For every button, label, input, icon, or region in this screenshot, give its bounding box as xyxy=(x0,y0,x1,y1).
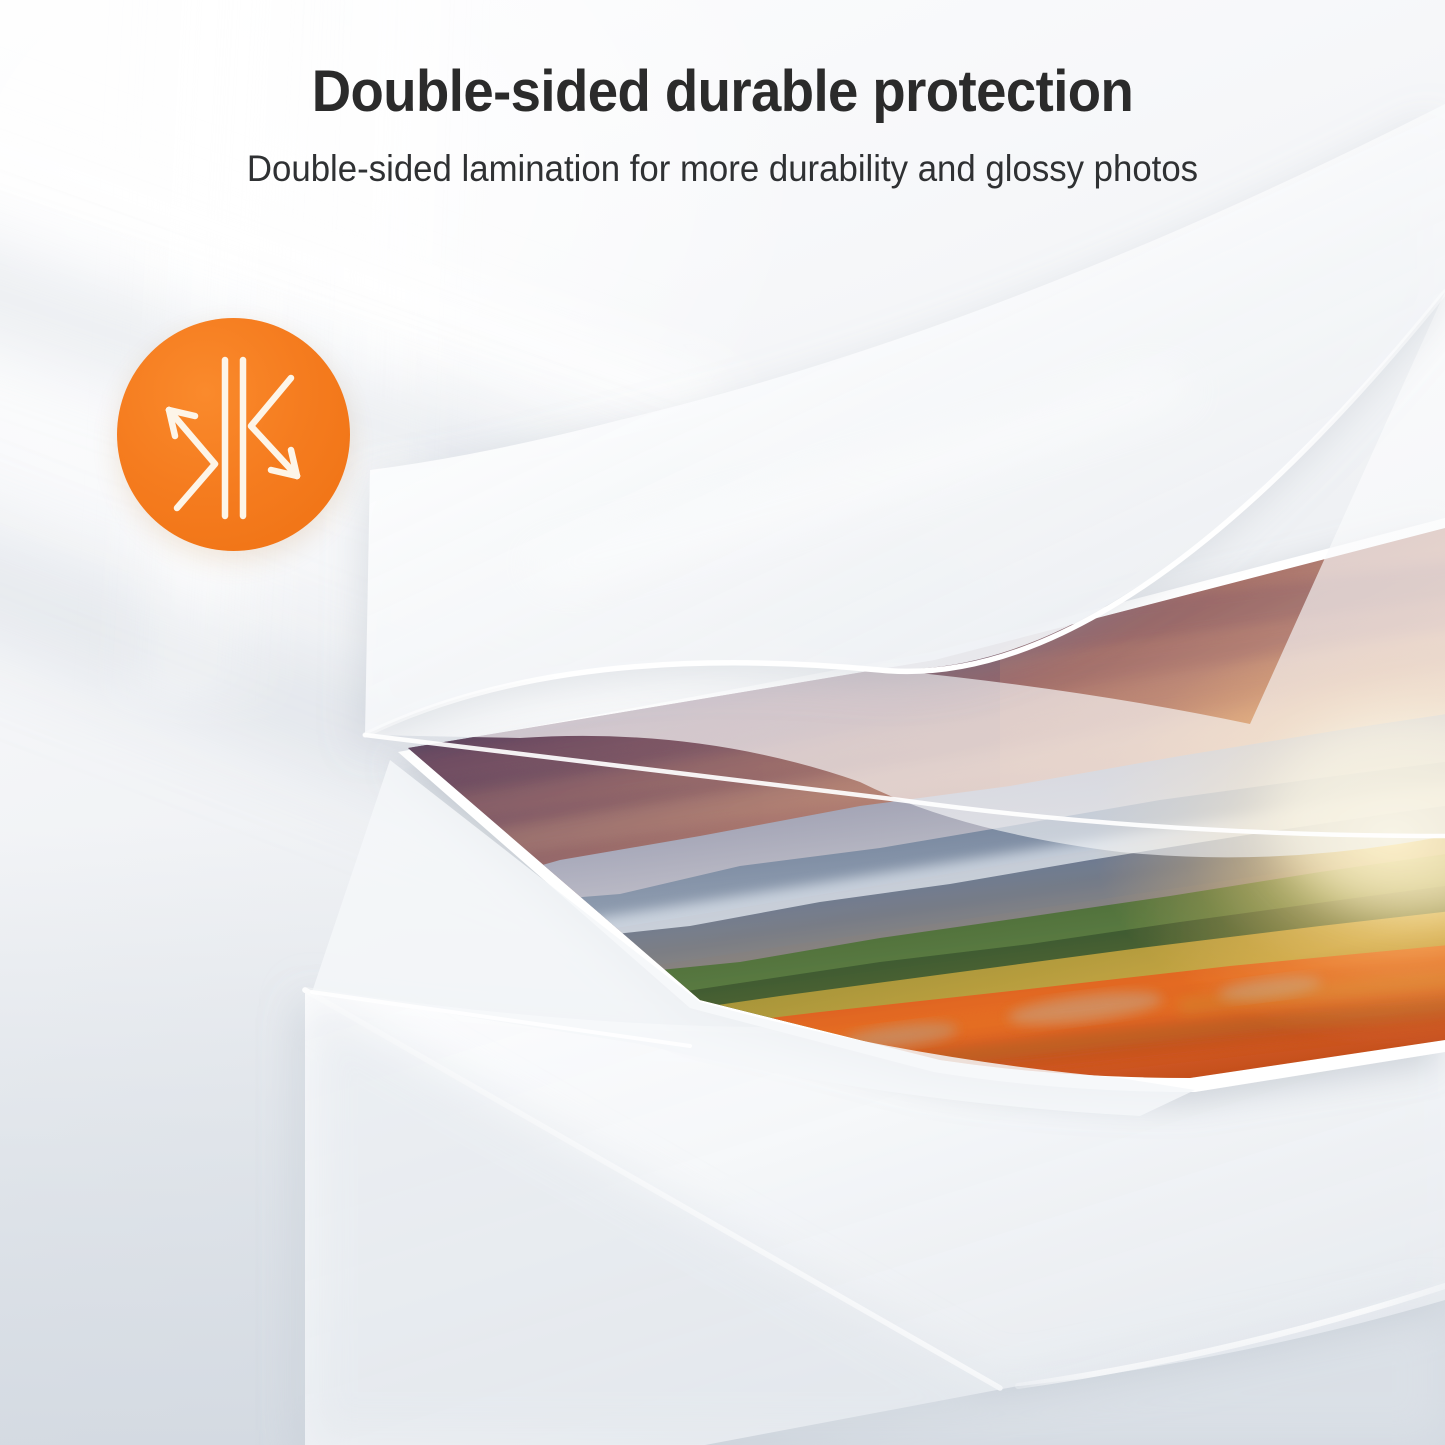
page-subtitle: Double-sided lamination for more durabil… xyxy=(43,149,1401,190)
page-title: Double-sided durable protection xyxy=(43,62,1401,123)
right-chevron xyxy=(251,378,297,476)
double-sided-lamination-badge xyxy=(117,318,350,551)
lamination-stack xyxy=(0,0,1445,1445)
product-feature-graphic: Double-sided durable protection Double-s… xyxy=(0,0,1445,1445)
left-chevron xyxy=(169,410,215,508)
heading-block: Double-sided durable protection Double-s… xyxy=(0,62,1445,190)
double-sided-lamination-icon xyxy=(117,318,350,551)
